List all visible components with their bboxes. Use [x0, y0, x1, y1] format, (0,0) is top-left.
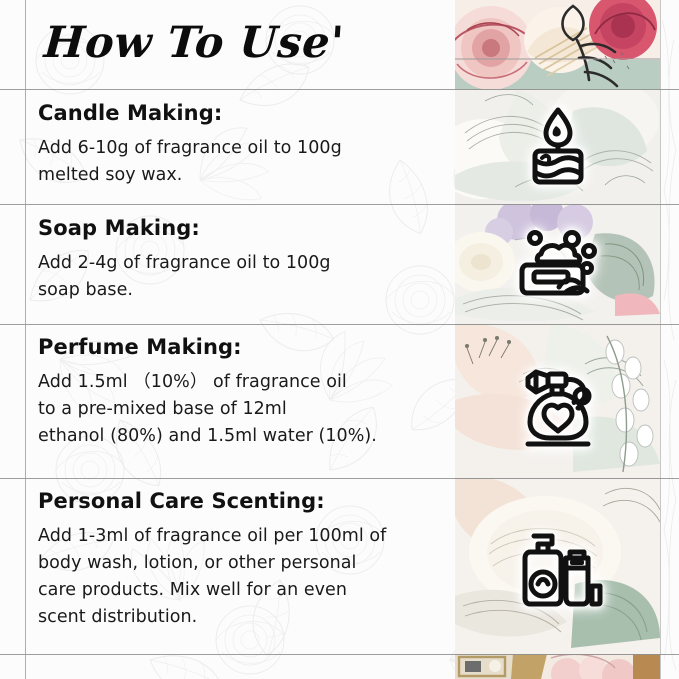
perfume-icon-slot [455, 356, 660, 460]
candle-icon-slot [455, 100, 660, 192]
soap-icon-slot [455, 218, 660, 310]
section-heading: Soap Making: [38, 215, 442, 241]
section-soap-making: Soap Making: Add 2-4g of fragrance oil t… [38, 215, 442, 304]
divider-title-bottom [0, 89, 679, 90]
divider-soap-bottom [0, 324, 679, 325]
candle-icon [522, 104, 594, 188]
divider-candle-bottom [0, 204, 679, 205]
left-vertical-rule-perfume [25, 325, 26, 478]
section-heading: Personal Care Scenting: [38, 488, 442, 514]
left-vertical-rule-footer [25, 655, 26, 679]
section-personal-care-scenting: Personal Care Scenting: Add 1-3ml of fra… [38, 488, 442, 631]
how-to-use-card: How To Use' Candle Making: Add 6-10g of … [0, 0, 679, 679]
section-body: Add 6-10g of fragrance oil to 100g melte… [38, 135, 442, 189]
section-candle-making: Candle Making: Add 6-10g of fragrance oi… [38, 100, 442, 189]
divider-personal-care-bottom [0, 654, 679, 655]
section-body: Add 1-3ml of fragrance oil per 100ml of … [38, 523, 442, 631]
left-vertical-rule-title [25, 0, 26, 89]
band-roses-bottom [455, 654, 660, 679]
lotion-bottle-icon [512, 526, 604, 612]
page-title: How To Use' [42, 12, 447, 78]
soap-bar-icon [515, 225, 601, 303]
band-roses-top [455, 0, 660, 89]
divider-perfume-bottom [0, 478, 679, 479]
right-edge-sliver [660, 0, 679, 679]
left-vertical-rule-soap [25, 205, 26, 324]
section-heading: Candle Making: [38, 100, 442, 126]
left-vertical-rule-candle [25, 90, 26, 204]
section-body: Add 2-4g of fragrance oil to 100g soap b… [38, 250, 442, 304]
perfume-bottle-icon [514, 364, 602, 452]
section-body: Add 1.5ml （10%） of fragrance oil to a pr… [38, 369, 442, 450]
section-perfume-making: Perfume Making: Add 1.5ml （10%） of fragr… [38, 334, 442, 450]
left-vertical-rule-care [25, 479, 26, 654]
personal-care-icon-slot [455, 516, 660, 622]
section-heading: Perfume Making: [38, 334, 442, 360]
right-vertical-rule [660, 0, 661, 679]
